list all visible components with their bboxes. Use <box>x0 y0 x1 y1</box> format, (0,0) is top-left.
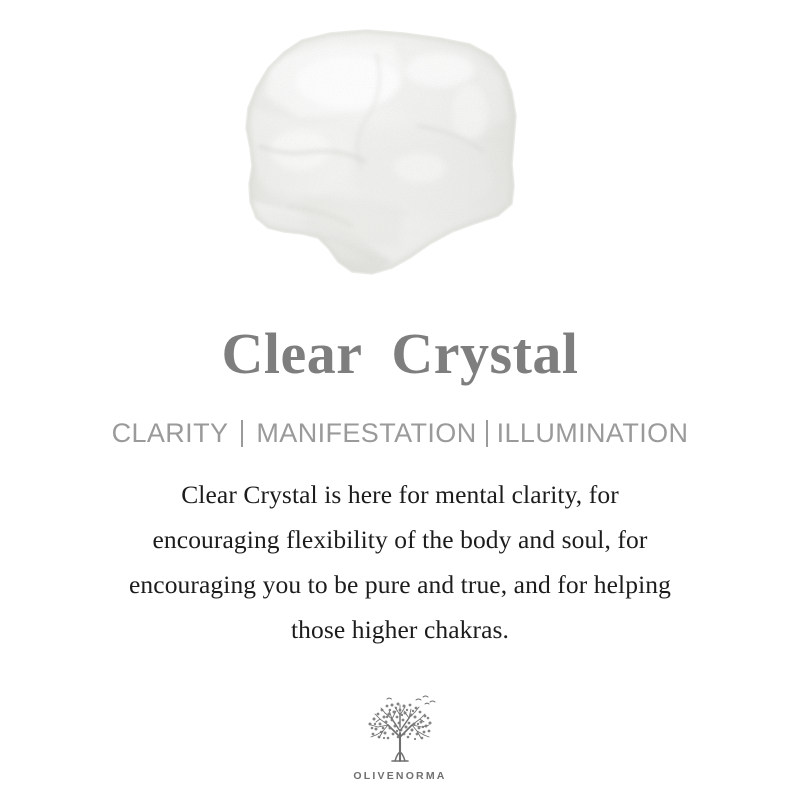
description-line: encouraging flexibility of the body and … <box>40 517 760 562</box>
page-title: Clear Crystal <box>221 318 578 390</box>
keyword-separator <box>486 420 488 447</box>
product-description: Clear Crystal is here for mental clarity… <box>40 472 760 652</box>
keyword-separator <box>241 420 243 447</box>
product-info-card: Clear Crystal CLARITY MANIFESTATION ILLU… <box>0 0 800 800</box>
keyword-manifestation: MANIFESTATION <box>256 418 476 449</box>
description-line: those higher chakras. <box>40 607 760 652</box>
raw-clear-quartz-crystal-photo <box>0 0 800 318</box>
brand-logo: OLIVENORMA <box>0 693 800 782</box>
product-image-area <box>0 0 800 318</box>
description-line: Clear Crystal is here for mental clarity… <box>40 472 760 517</box>
tree-of-life-icon <box>354 693 446 769</box>
keyword-clarity: CLARITY <box>112 418 229 449</box>
description-line: encouraging you to be pure and true, and… <box>40 562 760 607</box>
keyword-list: CLARITY MANIFESTATION ILLUMINATION <box>112 416 689 450</box>
brand-name: OLIVENORMA <box>353 770 446 782</box>
keyword-illumination: ILLUMINATION <box>497 418 689 449</box>
